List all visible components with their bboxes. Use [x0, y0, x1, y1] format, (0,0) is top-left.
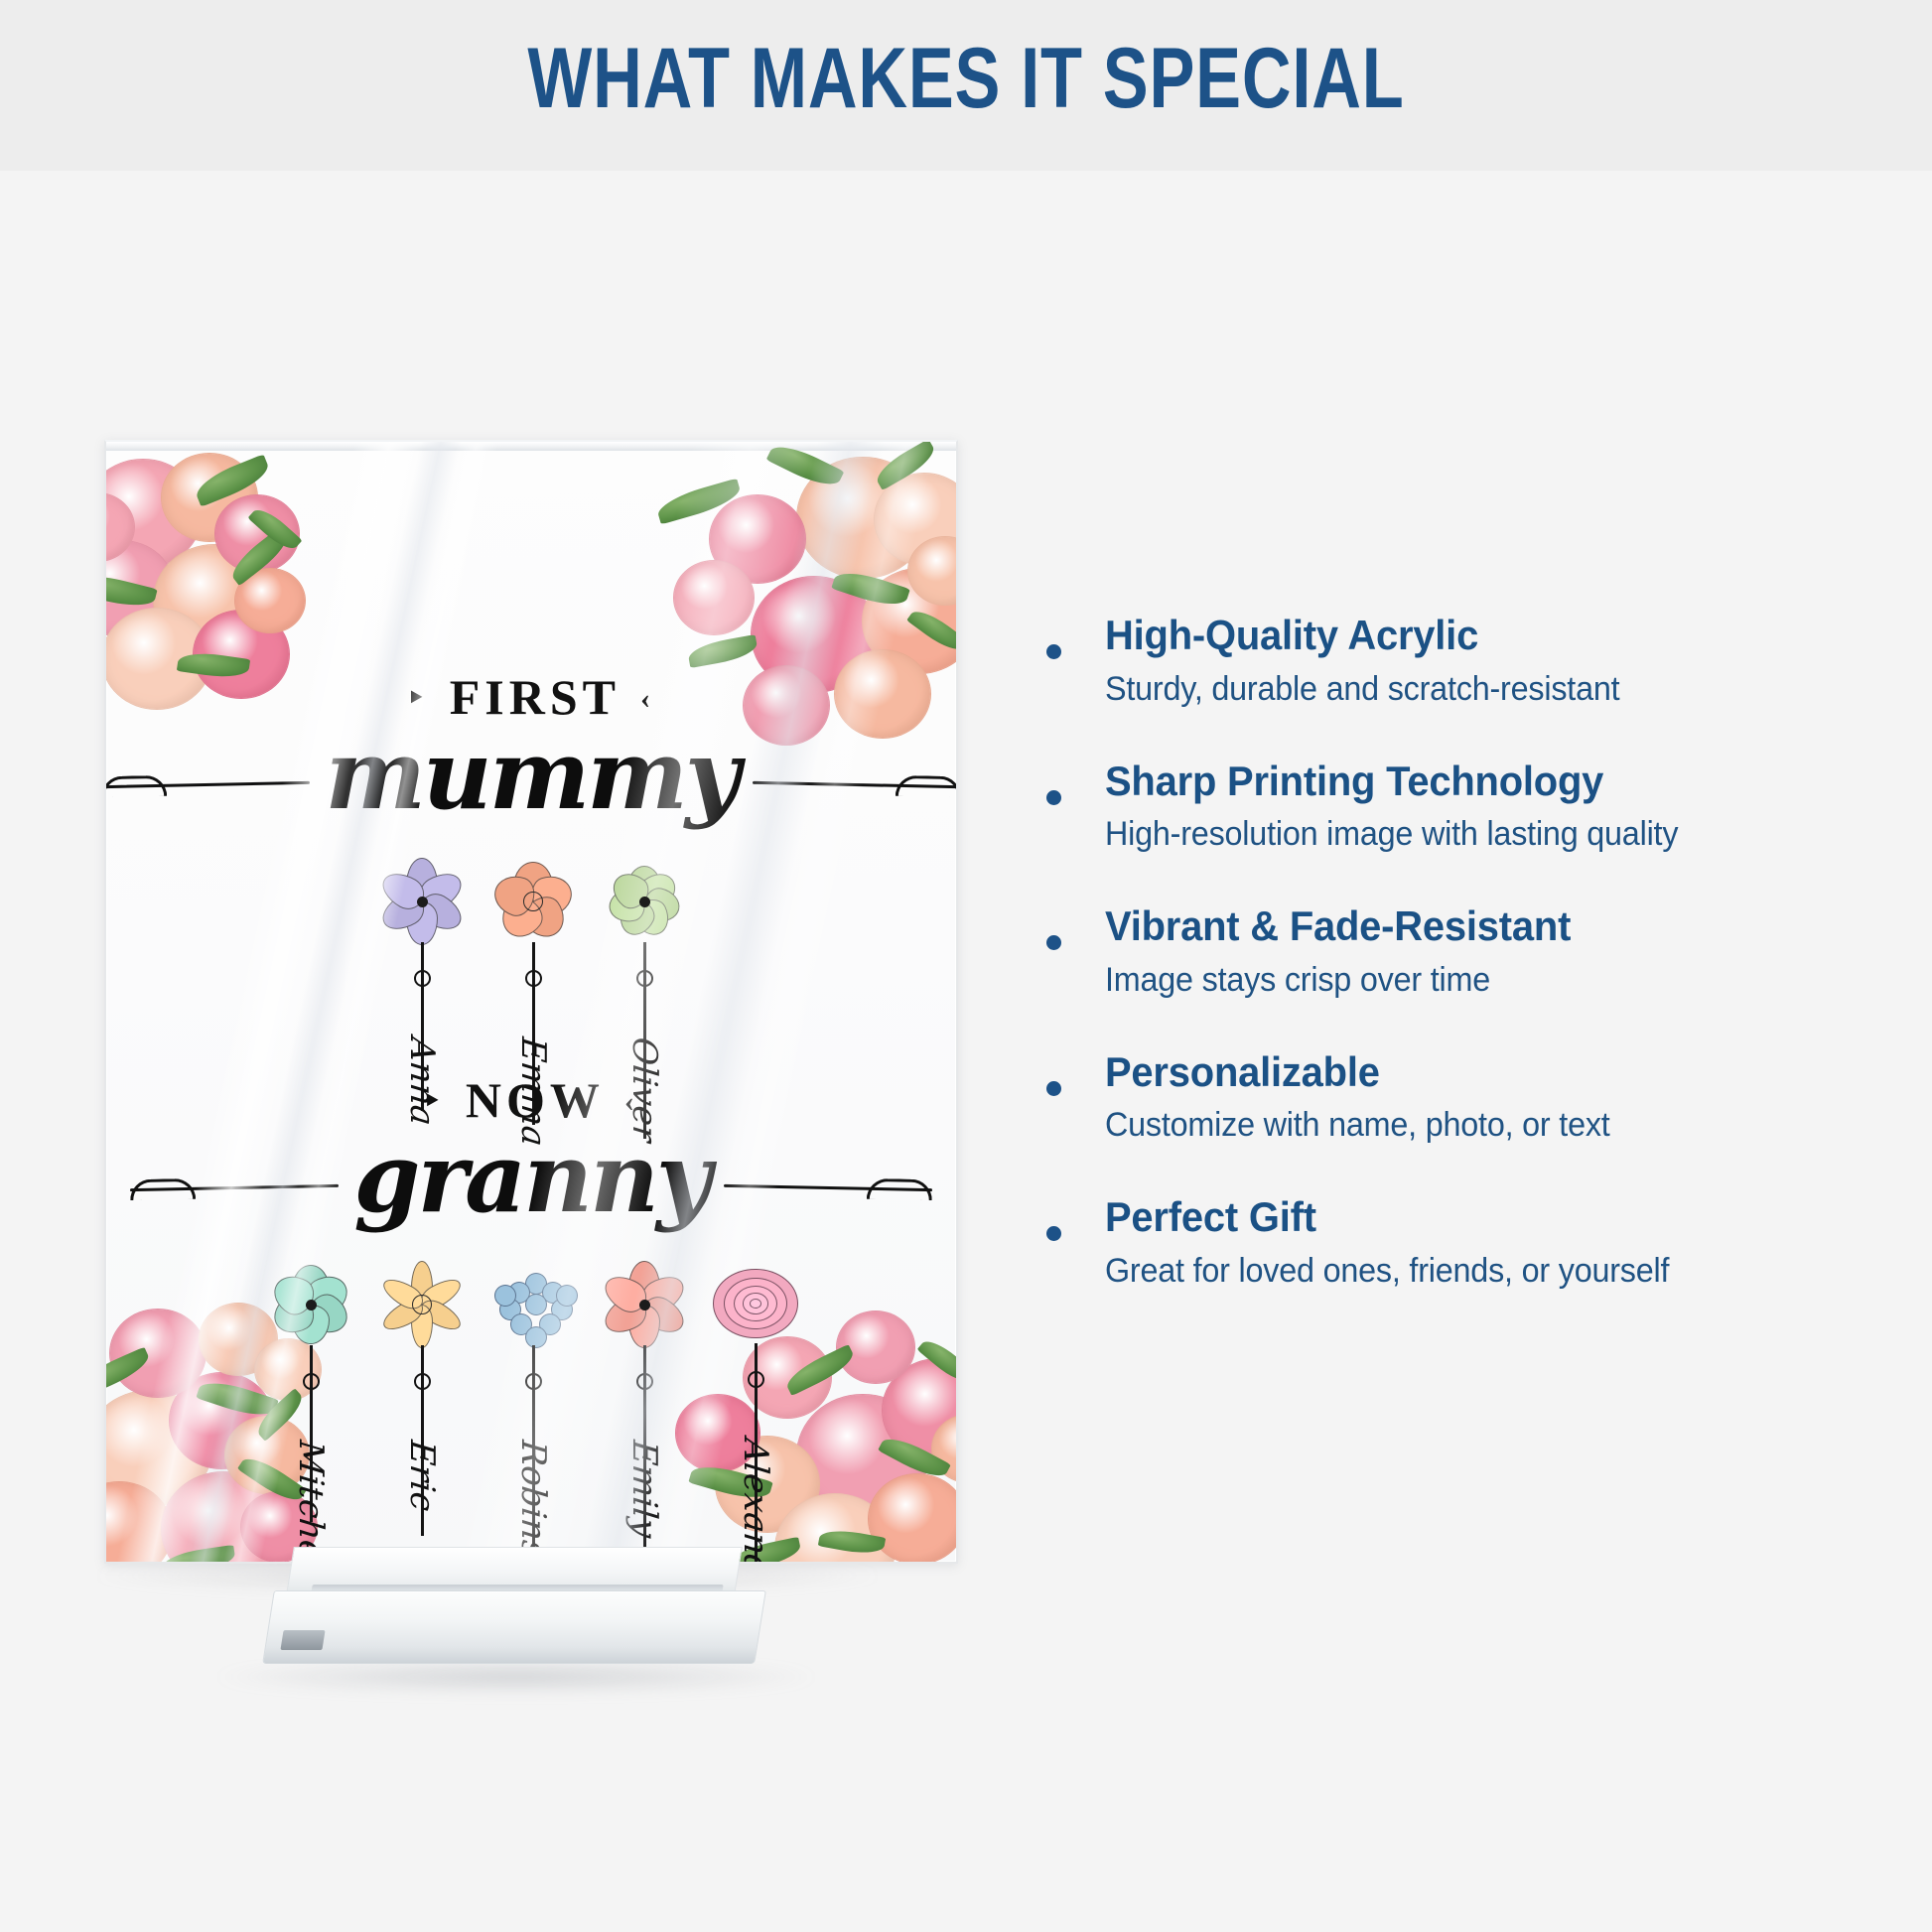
stem-loop	[414, 1373, 431, 1390]
feature-title: Sharp Printing Technology	[1105, 758, 1857, 806]
watercolor-leaf	[878, 1431, 951, 1483]
watercolor-carnation	[863, 569, 958, 673]
watercolor-leaf	[654, 479, 743, 525]
feature-description: Great for loved ones, friends, or yourse…	[1105, 1251, 1857, 1292]
feature-list: High-Quality AcrylicSturdy, durable and …	[1042, 612, 1896, 1292]
stand-notch	[280, 1630, 325, 1650]
watercolor-leaf	[906, 605, 958, 657]
heading-now-label: ‣NOW‹	[423, 1072, 639, 1128]
name-flower-unit: Robinson	[478, 1262, 589, 1564]
flower-stem: Emily	[589, 1347, 700, 1564]
pink-rose-flower	[713, 1262, 798, 1345]
personalized-name: Eric	[402, 1439, 442, 1513]
watercolor-leaf	[104, 569, 158, 613]
watercolor-leaf	[104, 1346, 153, 1397]
feature-description: Sturdy, durable and scratch-resistant	[1105, 669, 1857, 710]
heading-now: ‣NOW‹	[106, 1075, 956, 1125]
name-flower-unit: Mitchell	[255, 1262, 366, 1564]
flower-core	[306, 1300, 317, 1311]
watercolor-carnation	[674, 561, 754, 634]
feature-item: Perfect GiftGreat for loved ones, friend…	[1042, 1193, 1896, 1292]
feature-item: Sharp Printing TechnologyHigh-resolution…	[1042, 758, 1896, 856]
flower-core	[639, 1300, 650, 1311]
feature-title: High-Quality Acrylic	[1105, 612, 1857, 660]
watercolor-carnation	[932, 1415, 958, 1482]
script-mummy: mummy	[325, 726, 737, 826]
flower-stem: Alexander	[700, 1345, 811, 1564]
watercolor-leaf	[248, 503, 303, 555]
granny-text: granny	[353, 1122, 708, 1234]
heading-mummy: mummy	[106, 726, 956, 826]
personalized-name: Robinson	[513, 1439, 553, 1564]
mint-anemone-flower	[268, 1262, 353, 1347]
personalized-name: Mitchell	[291, 1439, 331, 1564]
now-label-text: NOW	[466, 1072, 605, 1128]
coral-poppy-flower	[490, 859, 576, 944]
name-flower-unit: Alexander	[700, 1262, 811, 1564]
stem-loop	[414, 970, 431, 987]
bullet-icon	[1046, 790, 1061, 805]
name-flower-unit: Eric	[366, 1262, 478, 1564]
watercolor-carnation	[797, 458, 928, 578]
ornament-left-icon: ‣	[407, 684, 430, 714]
watercolor-carnation	[104, 460, 202, 568]
ornament-right-icon-2: ‹	[624, 1087, 639, 1117]
blue-hydrangea-flower	[490, 1262, 576, 1347]
watercolor-leaf	[687, 634, 759, 668]
mummy-text: mummy	[325, 719, 737, 831]
stem-loop	[636, 1373, 653, 1390]
product-photo: ‣FIRST‹ mummy AnnaEmmaOliver ‣NOW‹	[0, 171, 1003, 1932]
watercolor-carnation	[104, 541, 174, 636]
flower-core	[523, 892, 543, 911]
stand-front-face	[262, 1590, 766, 1664]
flower-stem: Mitchell	[255, 1347, 366, 1522]
flower-core	[639, 897, 650, 907]
bullet-icon	[1046, 935, 1061, 950]
swash-right-2	[724, 1184, 932, 1191]
watercolor-carnation	[710, 495, 805, 583]
feature-title: Personalizable	[1105, 1048, 1857, 1097]
flower-stem: Robinson	[478, 1347, 589, 1550]
watercolor-leaf	[831, 566, 910, 612]
personalized-name: Emily	[624, 1439, 664, 1540]
acrylic-stand	[246, 1547, 782, 1676]
feature-item: PersonalizableCustomize with name, photo…	[1042, 1048, 1896, 1147]
swash-right	[753, 781, 958, 788]
feature-description: Customize with name, photo, or text	[1105, 1105, 1857, 1146]
watercolor-leaf	[226, 526, 295, 586]
green-carnation-flower	[602, 859, 687, 944]
personalized-name: Alexander	[736, 1437, 775, 1564]
yellow-lily-flower	[379, 1262, 465, 1347]
watercolor-carnation	[869, 1474, 958, 1564]
swash-left-2	[130, 1184, 339, 1191]
name-flower-unit: Emily	[589, 1262, 700, 1564]
script-granny: granny	[353, 1129, 708, 1229]
first-label-text: FIRST	[450, 669, 621, 725]
stem-loop	[636, 970, 653, 987]
heading-granny: granny	[106, 1129, 956, 1229]
flower-stem: Eric	[366, 1347, 478, 1536]
pink-cosmos-flower	[602, 1262, 687, 1347]
feature-item: High-Quality AcrylicSturdy, durable and …	[1042, 612, 1896, 710]
ornament-right-icon: ‹	[640, 684, 655, 714]
watercolor-carnation	[162, 454, 257, 541]
flower-core	[417, 897, 428, 907]
watercolor-leaf	[766, 440, 845, 492]
stem-loop	[525, 1373, 542, 1390]
feature-description: High-resolution image with lasting quali…	[1105, 814, 1857, 855]
watercolor-leaf	[872, 440, 939, 490]
swash-left	[104, 781, 310, 788]
watercolor-carnation	[235, 569, 305, 632]
feature-title: Perfect Gift	[1105, 1193, 1857, 1242]
stem-loop	[525, 970, 542, 987]
watercolor-carnation	[154, 545, 275, 656]
page-title: WHAT MAKES IT SPECIAL	[194, 14, 1739, 143]
stem-loop	[303, 1373, 320, 1390]
heading-first: ‣FIRST‹	[106, 672, 956, 722]
acrylic-plaque: ‣FIRST‹ mummy AnnaEmmaOliver ‣NOW‹	[104, 440, 958, 1564]
heading-first-label: ‣FIRST‹	[407, 669, 655, 725]
watercolor-carnation	[215, 495, 299, 572]
bullet-icon	[1046, 1081, 1061, 1096]
ornament-left-icon-2: ‣	[423, 1087, 446, 1117]
bullet-icon	[1046, 644, 1061, 659]
watercolor-carnation	[908, 537, 958, 605]
name-flower-row-two: MitchellEricRobinsonEmilyAlexander	[186, 1262, 881, 1564]
bullet-icon	[1046, 1226, 1061, 1241]
feature-description: Image stays crisp over time	[1105, 960, 1857, 1001]
watercolor-carnation	[104, 493, 134, 561]
stem-loop	[748, 1371, 764, 1388]
feature-item: Vibrant & Fade-ResistantImage stays cris…	[1042, 902, 1896, 1001]
watercolor-leaf	[917, 1334, 958, 1388]
watercolor-carnation	[875, 474, 958, 565]
plaque-artwork: ‣FIRST‹ mummy AnnaEmmaOliver ‣NOW‹	[106, 442, 956, 1562]
watercolor-leaf	[192, 454, 273, 506]
watercolor-carnation	[883, 1359, 958, 1461]
flower-core	[412, 1295, 432, 1314]
feature-title: Vibrant & Fade-Resistant	[1105, 902, 1857, 951]
watercolor-carnation	[104, 1482, 172, 1564]
violet-cosmos-flower	[379, 859, 465, 944]
